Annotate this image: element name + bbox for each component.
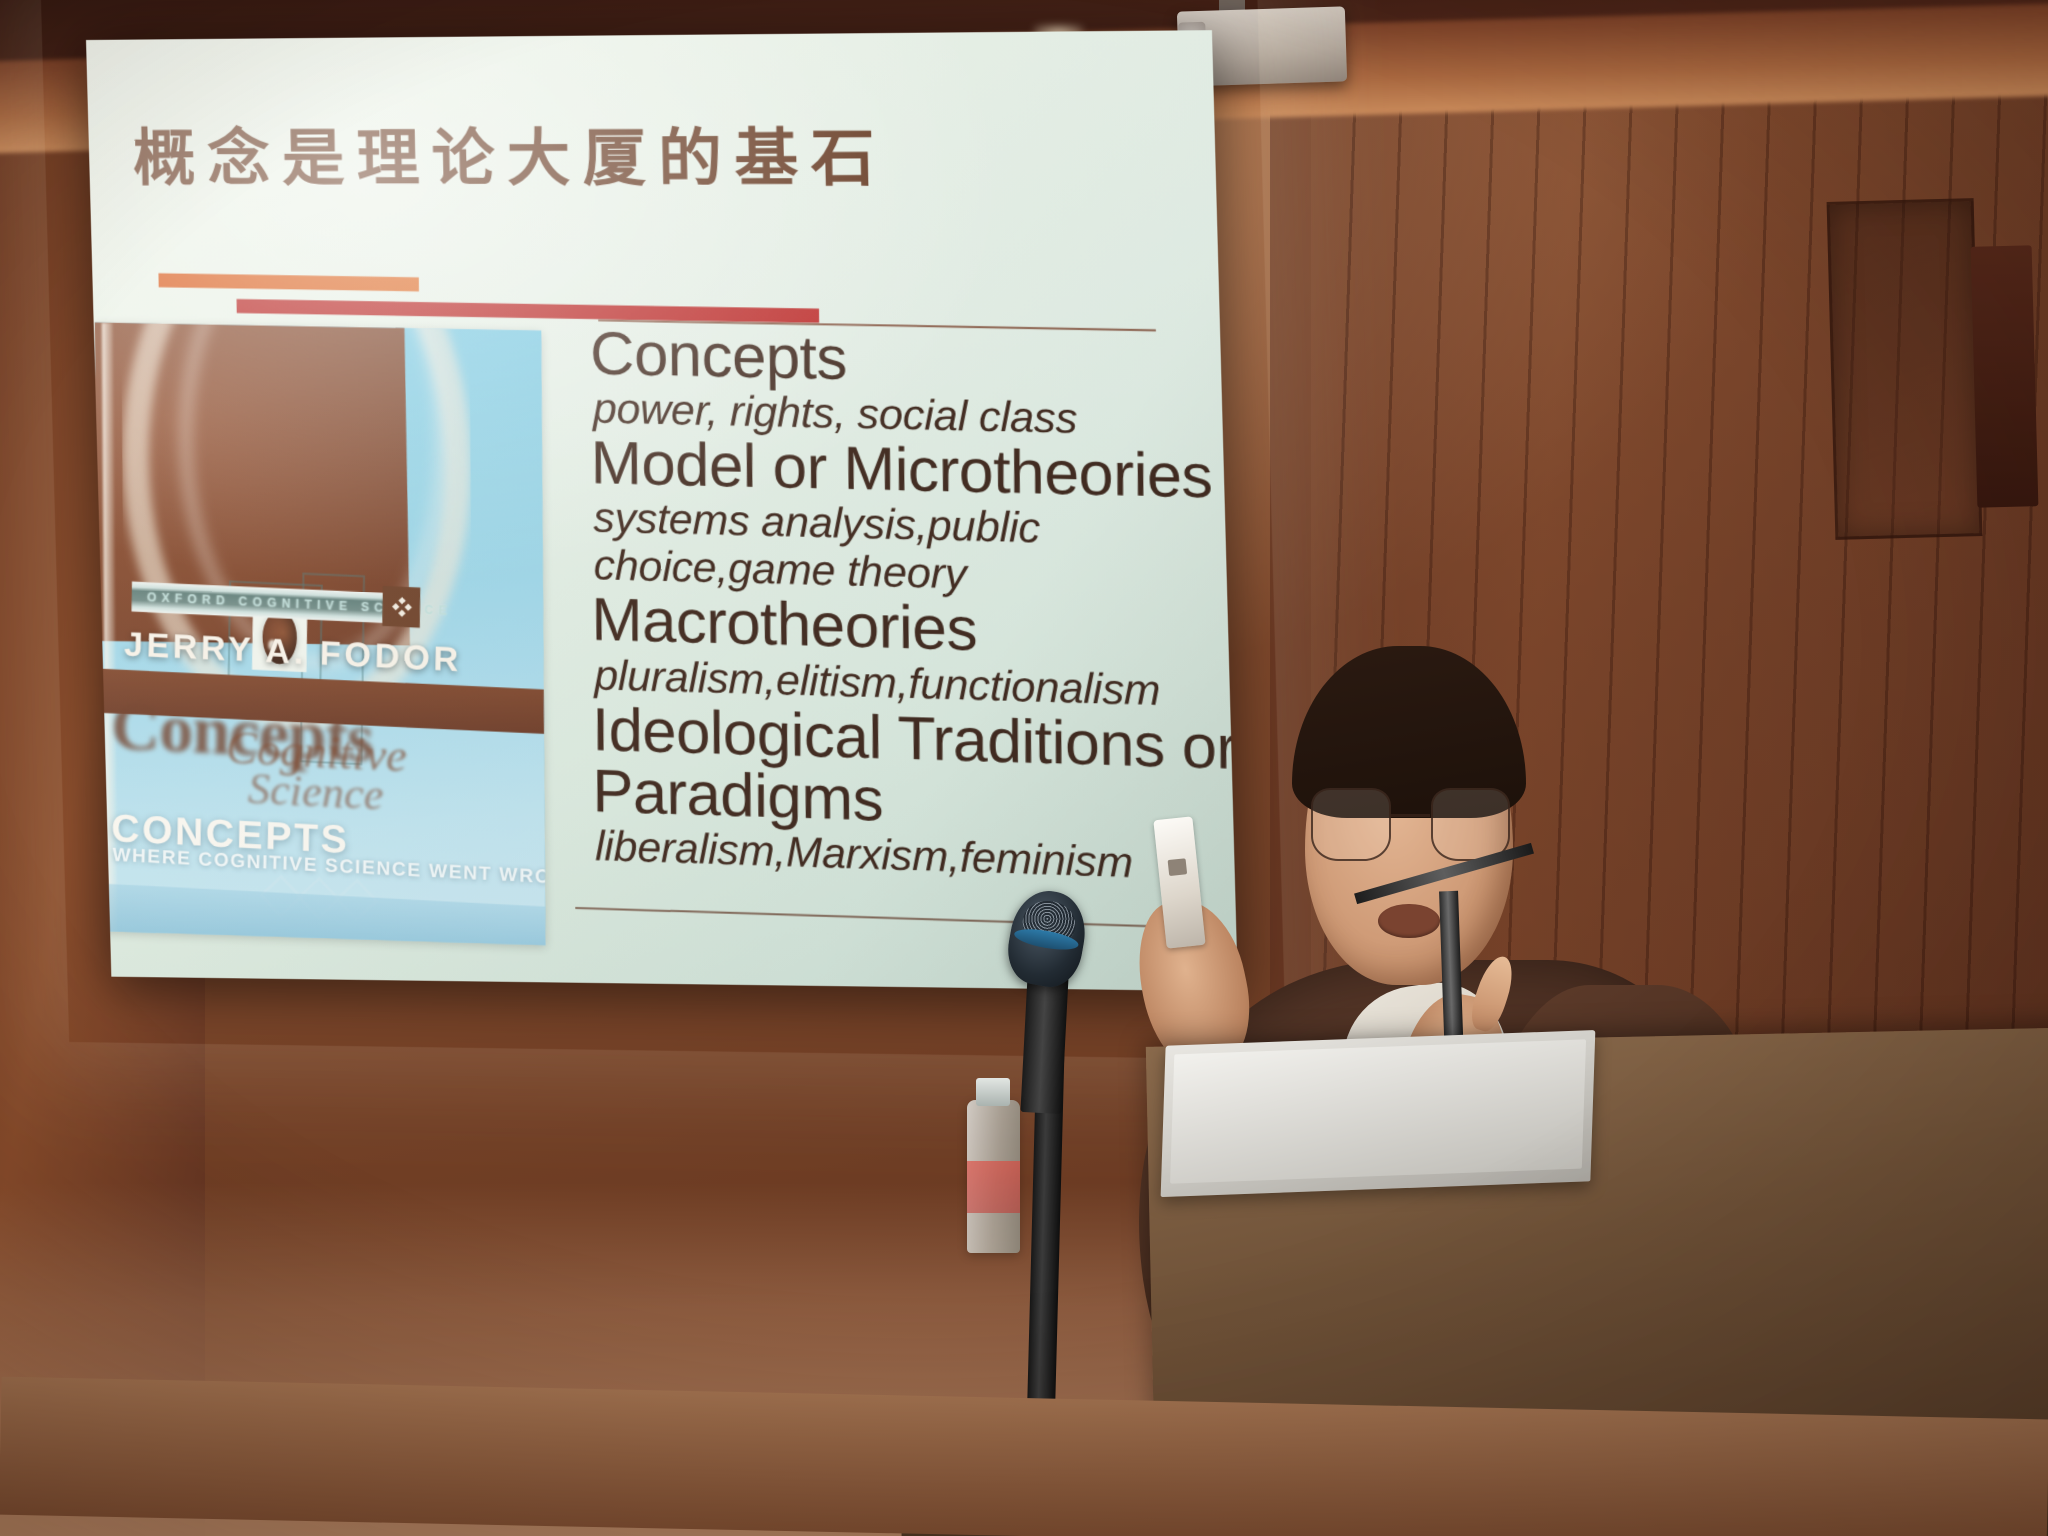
glasses-bridge — [1391, 814, 1431, 817]
book-cover-image: OXFORD COGNITIVE SCIENCE JERRY A. FODOR — [94, 322, 545, 945]
glasses-icon — [1311, 788, 1511, 861]
glasses-left-lens — [1311, 788, 1391, 861]
book-title-script-2: Science — [247, 762, 383, 820]
oxford-diamond-logo-icon — [382, 585, 420, 627]
slide-body-text: Concepts power, rights, social class Mod… — [590, 323, 1219, 890]
wall-speaker-cabinet — [1827, 198, 1983, 540]
lecture-hall-scene: 概念是理论大厦的基石 OXFORD COGNITIVE SCI — [0, 0, 2048, 1536]
water-bottle — [967, 1100, 1020, 1254]
slide-title: 概念是理论大厦的基石 — [132, 107, 888, 199]
projection-screen: 概念是理论大厦的基石 OXFORD COGNITIVE SCI — [86, 30, 1238, 991]
microphone-gooseneck — [1020, 974, 1068, 1114]
slide-rule-bottom — [575, 906, 1178, 927]
decor-bar-red — [236, 299, 818, 323]
wall-speaker-grill — [1971, 245, 2039, 508]
laptop-screen — [1170, 1040, 1587, 1185]
slide-surface: 概念是理论大厦的基石 OXFORD COGNITIVE SCI — [86, 30, 1238, 991]
presenter-laptop[interactable] — [1161, 1030, 1596, 1197]
bottle-cap — [976, 1078, 1010, 1106]
bottle-label — [967, 1161, 1020, 1213]
presenter-mouth — [1378, 904, 1439, 938]
decor-bar-orange — [158, 273, 418, 291]
glasses-right-lens — [1431, 788, 1511, 861]
